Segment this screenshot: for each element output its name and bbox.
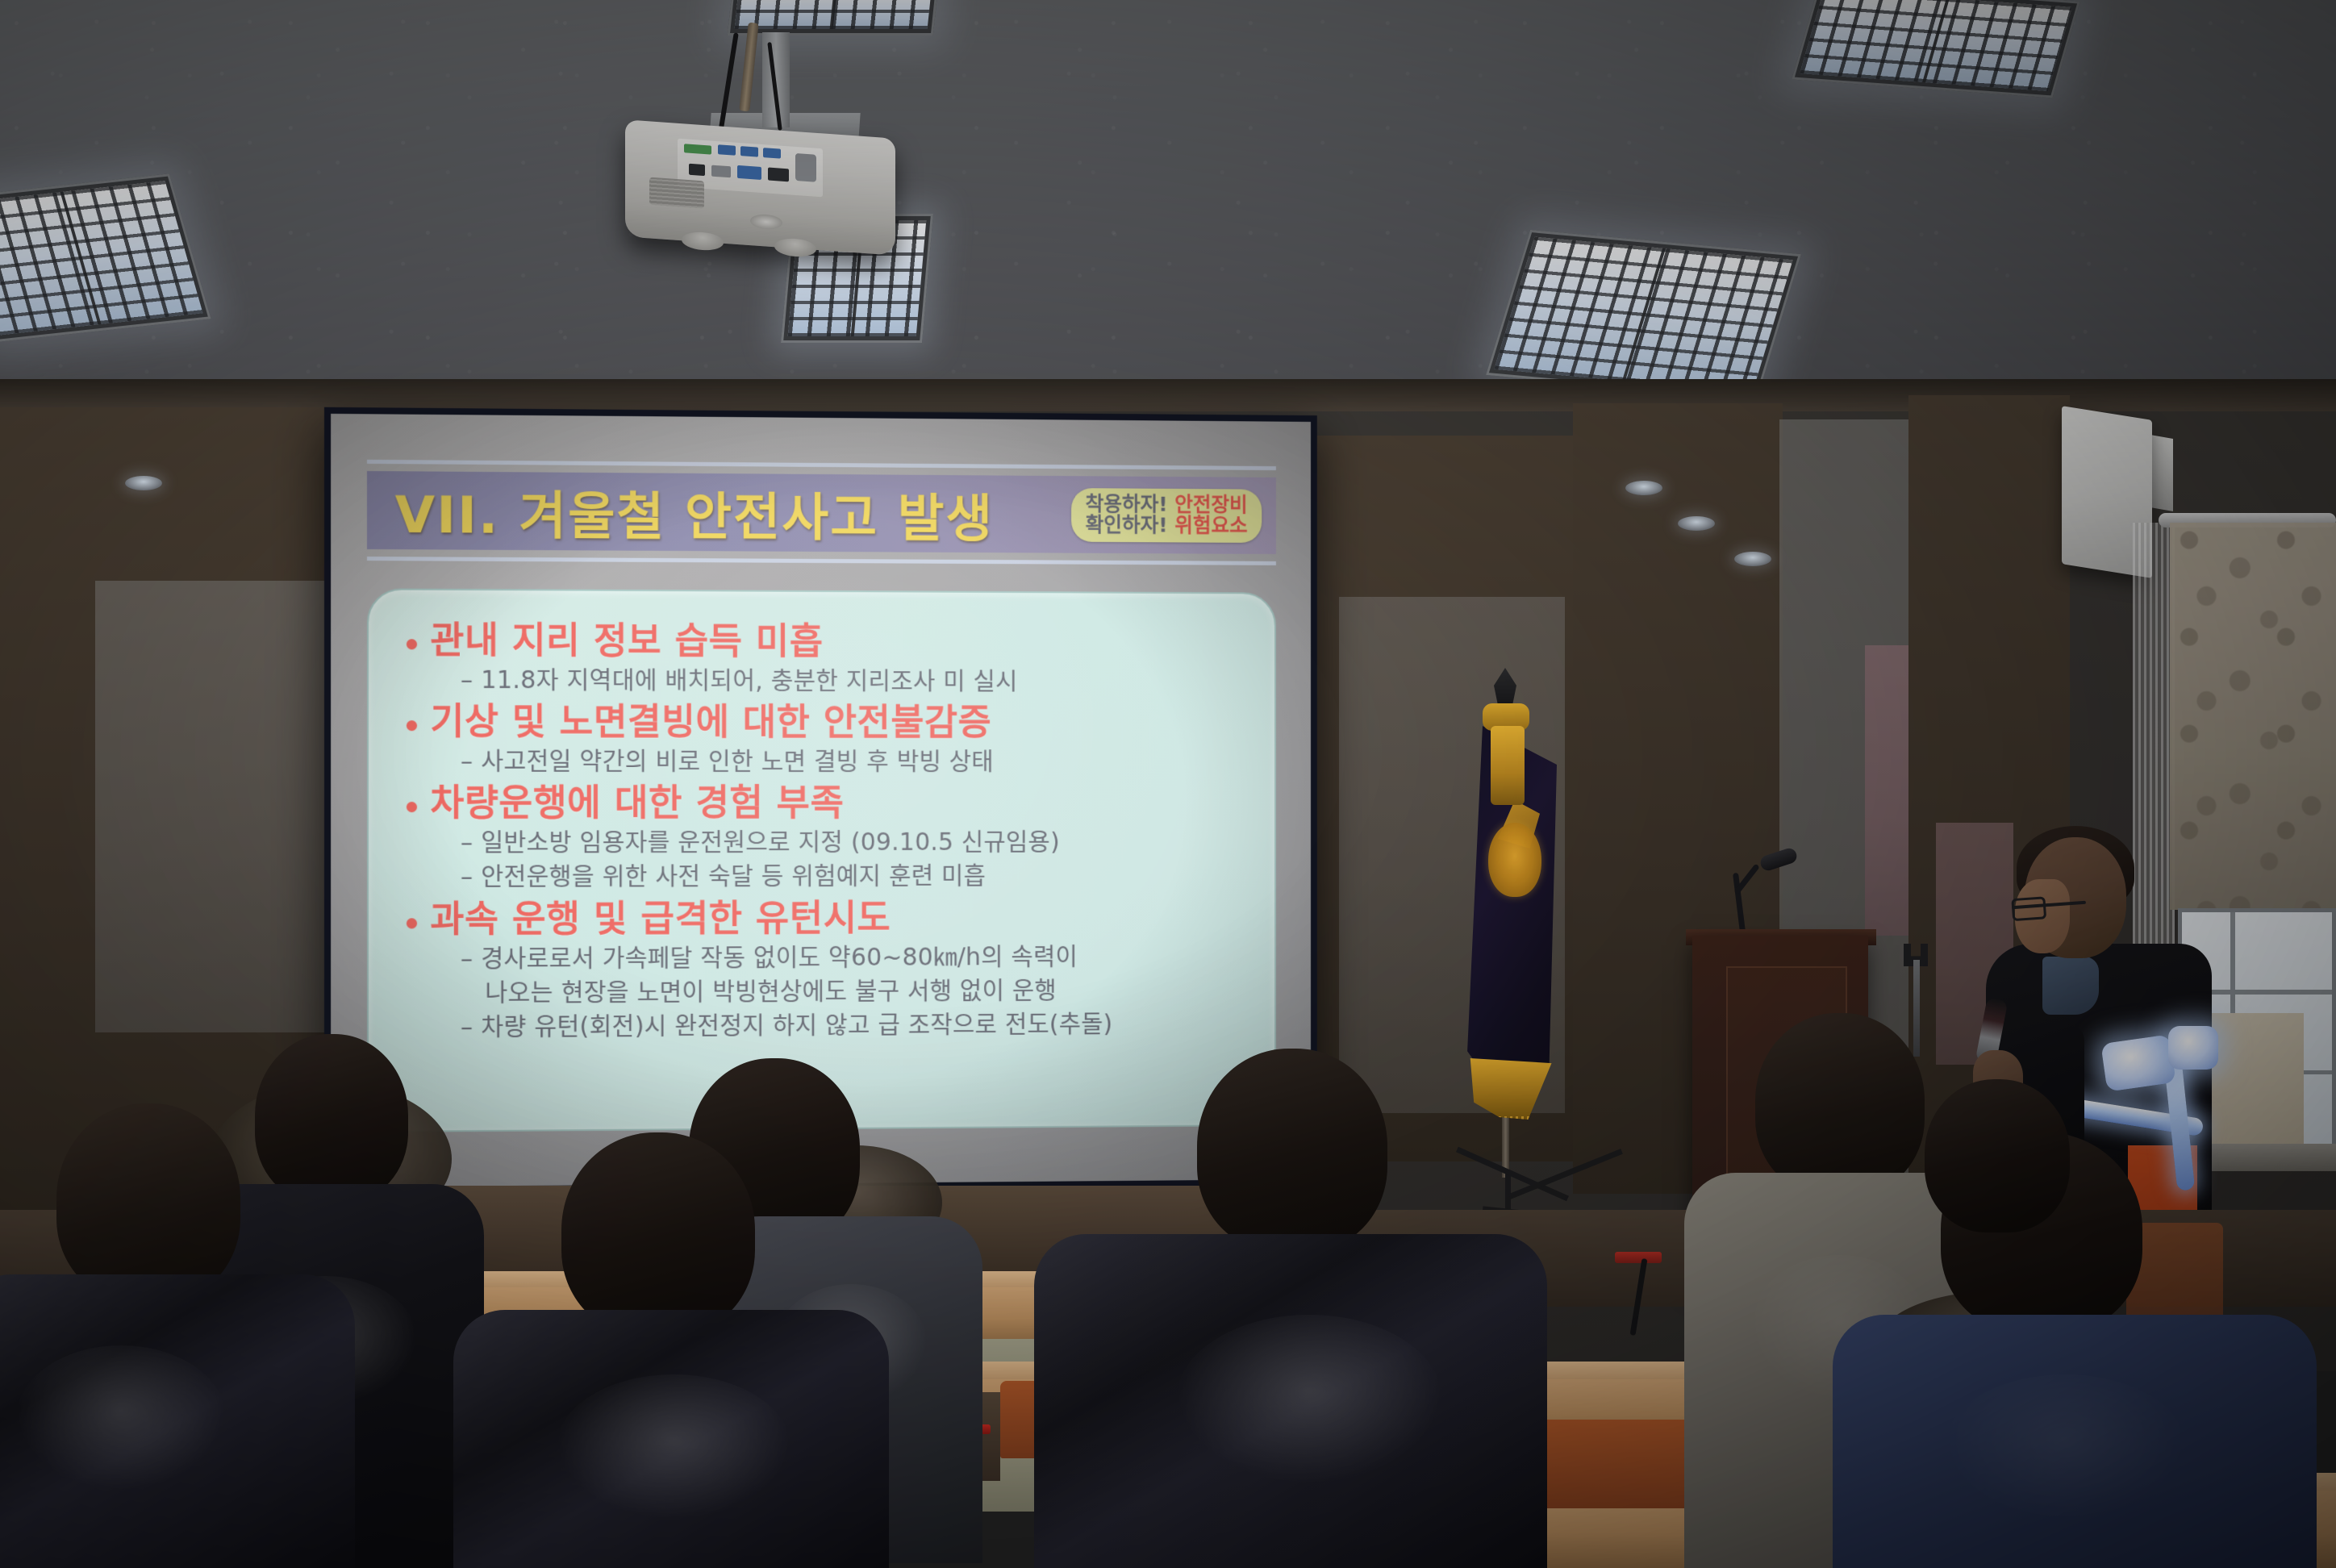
bullet-sub: – 경사로로서 가속페달 작동 없이도 약60~80㎞/h의 속력이 <box>461 941 1238 975</box>
lecture-hall-photo: VII. 겨울철 안전사고 발생 착용하자! 안전장비 확인하자! 위험요소 <box>0 0 2336 1568</box>
bullet-heading: 차량운행에 대한 경험 부족 <box>430 782 844 824</box>
audience-member <box>0 1103 339 1568</box>
reflective-patch <box>2168 1026 2218 1070</box>
bullet-heading: 과속 운행 및 급격한 유턴시도 <box>430 898 891 940</box>
safety-badge: 착용하자! 안전장비 확인하자! 위험요소 <box>1071 488 1262 543</box>
downlight-icon <box>1734 552 1771 566</box>
projector-vent <box>649 177 704 209</box>
bullet-sub: – 사고전일 약간의 비로 인한 노면 결빙 후 박빙 상태 <box>461 746 1238 778</box>
bullet-sub: – 안전운행을 위한 사전 숙달 등 위험예지 훈련 미흡 <box>461 861 1238 894</box>
flag-emblem-icon <box>1488 823 1541 897</box>
bullet-sub: – 11.8자 지역대에 배치되어, 충분한 지리조사 미 실시 <box>461 665 1238 698</box>
ceiling-light-icon <box>1486 230 1801 399</box>
audience-member <box>1925 1079 2086 1257</box>
audience-head <box>561 1132 755 1336</box>
bullet-heading: 관내 지리 정보 습득 미흡 <box>430 619 823 663</box>
slide-bullet: 과속 운행 및 급격한 유턴시도 <box>407 897 1238 940</box>
badge-line2-accent: 위험요소 <box>1174 514 1247 537</box>
slide-title: VII. 겨울철 안전사고 발생 <box>395 473 994 551</box>
badge-line1-prefix: 착용하자! <box>1086 492 1168 515</box>
bullet-dot-icon <box>407 639 417 649</box>
bullet-dot-icon <box>407 918 417 928</box>
bullet-dot-icon <box>407 802 417 812</box>
desk-handle-icon[interactable] <box>1615 1252 1662 1263</box>
downlight-icon <box>125 476 162 490</box>
slide-bullet: 관내 지리 정보 습득 미흡 <box>407 619 1238 664</box>
flag-tassel <box>1491 726 1525 805</box>
bullet-sub: – 일반소방 임용자를 운전원으로 지정 (09.10.5 신규임용) <box>461 828 1238 859</box>
slide-bullet: 기상 및 노면결빙에 대한 안전불감증 <box>407 701 1238 744</box>
downlight-icon <box>1625 481 1662 495</box>
bullet-heading: 기상 및 노면결빙에 대한 안전불감증 <box>430 701 991 744</box>
slide-title-bar: VII. 겨울철 안전사고 발생 착용하자! 안전장비 확인하자! 위험요소 <box>367 471 1276 554</box>
audience-head <box>56 1103 240 1302</box>
presenter-shirt-collar <box>2042 957 2099 1015</box>
audience-head <box>1925 1079 2070 1232</box>
slide-bullet: 차량운행에 대한 경험 부족 <box>407 782 1238 824</box>
ceiling-light-icon <box>728 0 939 35</box>
badge-line1-accent: 안전장비 <box>1174 492 1247 515</box>
downlight-icon <box>1678 516 1715 531</box>
bullet-sub: 나오는 현장을 노면이 박빙현상에도 불구 서행 없이 운행 <box>485 975 1238 1009</box>
audience-member <box>468 1132 871 1568</box>
bullet-sub: – 차량 유턴(회전)시 완전정지 하지 않고 급 조작으로 전도(추돌) <box>461 1009 1238 1044</box>
bullet-dot-icon <box>407 720 417 731</box>
slide-title-rule-bottom <box>367 557 1276 565</box>
wall-panel <box>95 581 337 1032</box>
slide-title-rule-top <box>367 460 1276 470</box>
badge-line2-prefix: 확인하자! <box>1086 513 1168 536</box>
reflective-patch <box>2100 1034 2176 1091</box>
audience-member <box>1039 1049 1539 1568</box>
audience-head <box>1197 1049 1387 1252</box>
